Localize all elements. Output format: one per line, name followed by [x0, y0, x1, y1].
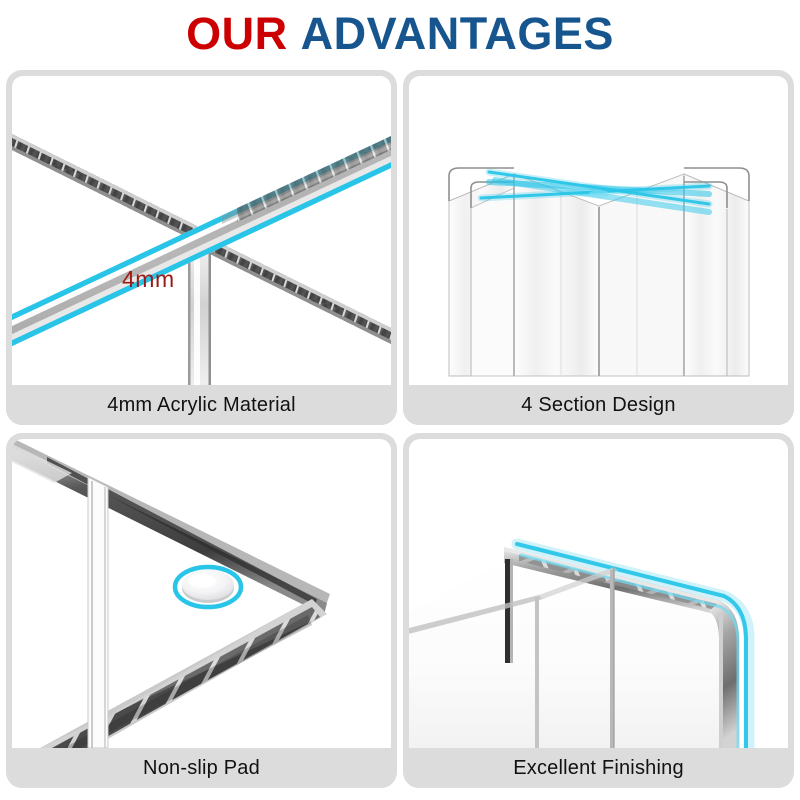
crossed-acrylic-edges-graphic — [12, 76, 391, 385]
panel-caption-acrylic-material: 4mm Acrylic Material — [12, 385, 391, 425]
feature-panel-acrylic-material[interactable]: 4mm 4mm Acrylic Material — [6, 70, 397, 425]
feature-panel-excellent-finishing[interactable]: Excellent Finishing — [403, 433, 794, 788]
infographic-root: OUR ADVANTAGES — [0, 0, 800, 800]
non-slip-pad-illustration — [12, 439, 391, 748]
acrylic-edge-strip-descending-right — [208, 237, 391, 344]
page-title: OUR ADVANTAGES — [0, 0, 800, 66]
pad-gloss — [188, 574, 216, 588]
page-title-red-word: OUR — [186, 8, 288, 59]
panel-caption-section-design: 4 Section Design — [409, 385, 788, 425]
feature-panel-section-design[interactable]: 4 Section Design — [403, 70, 794, 425]
acrylic-edge-strip-descending — [12, 134, 197, 242]
acrylic-material-illustration: 4mm — [12, 76, 391, 385]
feature-panel-non-slip-pad[interactable]: Non-slip Pad — [6, 433, 397, 788]
page-title-text: OUR ADVANTAGES — [186, 11, 614, 56]
acrylic-edge-strip-ascending-textured — [237, 136, 391, 222]
left-thin-edge — [505, 559, 513, 663]
feature-panel-grid: 4mm 4mm Acrylic Material — [6, 70, 794, 794]
excellent-finishing-illustration — [409, 439, 788, 748]
non-slip-pad — [175, 567, 241, 607]
center-glint — [589, 190, 609, 198]
four-section-divider-graphic — [409, 76, 788, 385]
base-corner-pad-graphic — [12, 439, 391, 748]
panel-caption-non-slip-pad: Non-slip Pad — [12, 748, 391, 788]
panel-caption-excellent-finishing: Excellent Finishing — [409, 748, 788, 788]
polished-edge-graphic — [409, 439, 788, 748]
section-design-illustration — [409, 76, 788, 385]
vertical-divider-pane — [88, 477, 108, 748]
page-title-blue-word: ADVANTAGES — [301, 8, 614, 59]
